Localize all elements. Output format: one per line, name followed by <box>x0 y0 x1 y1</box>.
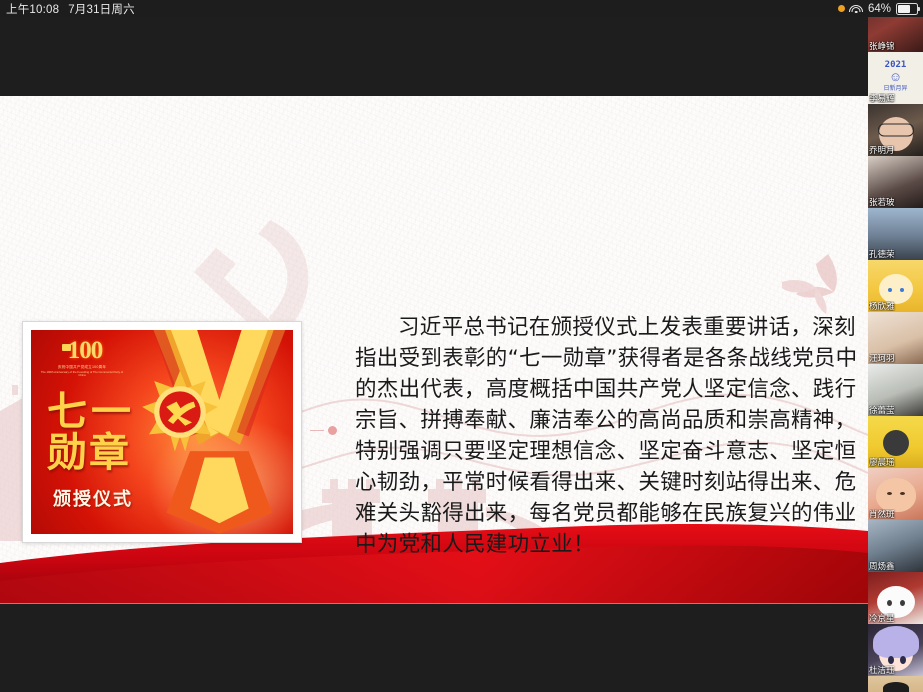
medal-icon <box>137 369 223 455</box>
participant-tile[interactable]: 杜洁珏 <box>868 624 923 676</box>
slide-body-text: 习近平总书记在颁授仪式上发表重要讲话，深刻指出受到表彰的“七一勋章”获得者是各条… <box>355 312 865 560</box>
participant-tile[interactable]: 孔德荣 <box>868 208 923 260</box>
participant-name: 徐蕾莹 <box>869 405 922 415</box>
flag-icon <box>62 344 71 351</box>
participant-tile[interactable]: 徐蕾莹 <box>868 364 923 416</box>
poster-title: 七一 勋章 <box>47 392 135 474</box>
participant-name: 汪珂羽 <box>869 353 922 363</box>
status-date: 7月31日周六 <box>68 1 135 17</box>
participant-tile[interactable]: 冷京星 <box>868 572 923 624</box>
dark-background-area <box>0 603 868 692</box>
participant-name: 杜洁珏 <box>869 665 922 675</box>
participant-name: 张若玻 <box>869 197 922 207</box>
participant-rail[interactable]: 张峥锦2021☺日新月异李易辉乔明月张若玻孔德荣杨欣雅汪珂羽徐蕾莹廖晨瑶肖然斑周… <box>868 0 923 692</box>
wifi-icon <box>850 4 863 14</box>
participant-tile[interactable]: 张若玻 <box>868 156 923 208</box>
participant-tile[interactable]: 肖然斑 <box>868 468 923 520</box>
participant-tile[interactable]: 乔明月 <box>868 104 923 156</box>
participant-tile[interactable]: 席颖武 <box>868 676 923 692</box>
status-time: 上午10:08 <box>6 1 59 17</box>
status-bar: 上午10:08 7月31日周六 64% <box>0 0 923 17</box>
poster-image: 100 庆祝中国共产党成立100周年 The 100th Anniversary… <box>31 330 293 534</box>
anniversary-emblem: 100 庆祝中国共产党成立100周年 The 100th Anniversary… <box>40 338 124 378</box>
participant-tile[interactable]: 廖晨瑶 <box>868 416 923 468</box>
poster-card[interactable]: 100 庆祝中国共产党成立100周年 The 100th Anniversary… <box>22 321 302 543</box>
status-bar-right: 64% <box>838 3 923 15</box>
connector-line <box>310 430 324 432</box>
status-bar-left: 上午10:08 7月31日周六 <box>0 1 135 17</box>
anniversary-en-label: The 100th Anniversary of the Founding of… <box>40 371 124 379</box>
slide-stage[interactable]: 100 庆祝中国共产党成立100周年 The 100th Anniversary… <box>0 96 868 603</box>
recording-dot-icon <box>838 5 845 12</box>
participant-name: 孔德荣 <box>869 249 922 259</box>
connector-point <box>328 426 337 435</box>
connector-dot <box>310 426 337 435</box>
participant-tile[interactable]: 周炀鑫 <box>868 520 923 572</box>
poster-title-line1: 七一 <box>47 392 135 433</box>
anniversary-number: 100 <box>40 338 124 363</box>
participant-tile[interactable]: 汪珂羽 <box>868 312 923 364</box>
participant-name: 廖晨瑶 <box>869 457 922 467</box>
participant-name: 周炀鑫 <box>869 561 922 571</box>
battery-icon <box>896 3 918 15</box>
participant-name: 杨欣雅 <box>869 301 922 311</box>
participant-tile[interactable]: 杨欣雅 <box>868 260 923 312</box>
participant-tile[interactable]: 2021☺日新月异李易辉 <box>868 52 923 104</box>
participant-name: 冷京星 <box>869 613 922 623</box>
screen: 上午10:08 7月31日周六 64% <box>0 0 923 692</box>
poster-title-line2: 勋章 <box>47 433 135 474</box>
participant-name: 张峥锦 <box>869 41 922 51</box>
participant-name: 乔明月 <box>869 145 922 155</box>
slide-bottom-divider <box>0 603 868 604</box>
participant-avatar <box>868 676 923 692</box>
poster-subtitle: 颁授仪式 <box>53 485 133 511</box>
participant-name: 李易辉 <box>869 93 922 103</box>
participant-name: 肖然斑 <box>869 509 922 519</box>
battery-percent-label: 64% <box>868 3 891 15</box>
